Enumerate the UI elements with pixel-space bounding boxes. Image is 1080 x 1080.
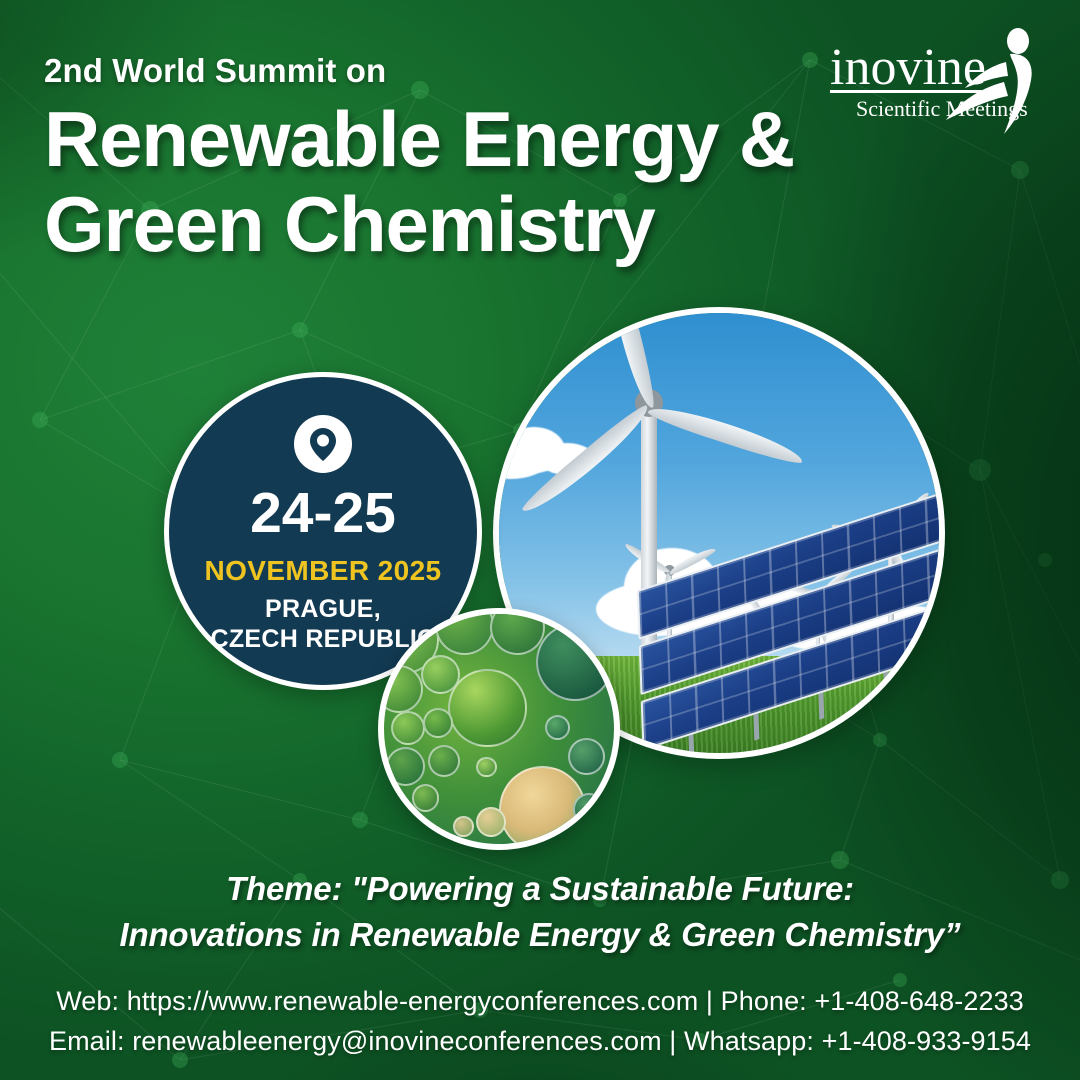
title-line-1: Renewable Energy &	[44, 95, 794, 183]
theme-line-2: Innovations in Renewable Energy & Green …	[90, 912, 990, 958]
event-city: PRAGUE,	[265, 595, 381, 623]
footer-email-whatsapp[interactable]: Email: renewableenergy@inovineconference…	[0, 1022, 1080, 1062]
event-dates: 24-25	[250, 485, 396, 542]
theme-line-1: Theme: "Powering a Sustainable Future:	[90, 866, 990, 912]
contact-footer: Web: https://www.renewable-energyconfere…	[0, 982, 1080, 1062]
event-theme: Theme: "Powering a Sustainable Future: I…	[90, 866, 990, 957]
location-pin-icon	[294, 415, 352, 473]
inovine-logo[interactable]: inovine Scientific Meetings	[824, 26, 1052, 138]
logo-underline	[830, 90, 982, 93]
summit-eyebrow: 2nd World Summit on	[44, 52, 794, 90]
footer-web-phone[interactable]: Web: https://www.renewable-energyconfere…	[0, 982, 1080, 1022]
bubbles-photo-circle	[378, 608, 620, 850]
poster-header: 2nd World Summit on Renewable Energy & G…	[44, 52, 794, 262]
event-month-year: NOVEMBER 2025	[204, 555, 441, 587]
logo-tagline: Scientific Meetings	[856, 96, 1028, 121]
conference-poster: 2nd World Summit on Renewable Energy & G…	[0, 0, 1080, 1080]
page-title: Renewable Energy & Green Chemistry	[44, 102, 794, 262]
green-bubbles-scene	[384, 614, 614, 844]
logo-wordmark: inovine	[830, 39, 986, 96]
title-line-2: Green Chemistry	[44, 187, 794, 262]
